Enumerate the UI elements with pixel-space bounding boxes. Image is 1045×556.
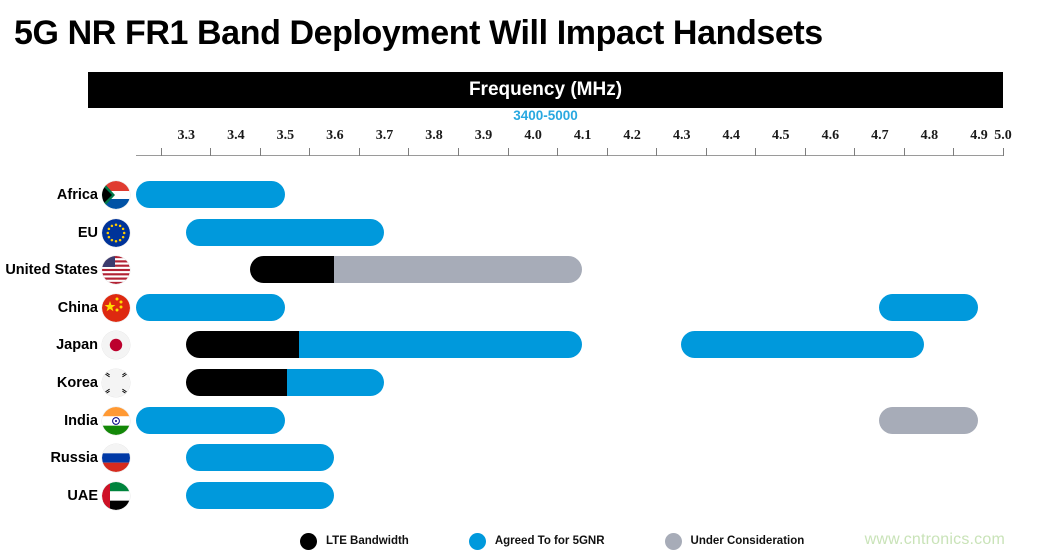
japan-flag	[102, 331, 130, 359]
bar-segment-lte	[186, 369, 288, 396]
chart-row: EU	[0, 214, 1045, 252]
bar-segment-agreed	[186, 482, 335, 509]
row-label-wrap: China	[0, 289, 98, 327]
axis-tick	[309, 148, 310, 156]
axis-tick-label: 3.3	[161, 128, 212, 144]
axis-tick-label: 3.4	[210, 128, 261, 144]
axis-tick	[508, 148, 509, 156]
eu-flag	[102, 219, 130, 247]
bar-segment-consideration	[334, 256, 582, 283]
korea-flag	[102, 369, 130, 397]
china-flag	[102, 294, 130, 322]
axis-tick	[210, 148, 211, 156]
axis-tick	[904, 148, 905, 156]
bar-segment-agreed	[186, 219, 384, 246]
row-label-japan: Japan	[0, 326, 98, 364]
axis-tick-label: 4.2	[607, 128, 658, 144]
india-flag	[102, 407, 130, 435]
row-label-wrap: Japan	[0, 326, 98, 364]
axis-tick	[953, 148, 954, 156]
chart-row: Africa	[0, 176, 1045, 214]
bar-segment-consideration	[879, 407, 978, 434]
bar-segment-agreed	[136, 181, 285, 208]
bar-segment-agreed	[136, 294, 285, 321]
legend-swatch-lte	[300, 533, 317, 550]
row-label-china: China	[0, 289, 98, 327]
row-label-india: India	[0, 402, 98, 440]
row-label-korea: Korea	[0, 364, 98, 402]
legend-swatch-consideration	[665, 533, 682, 550]
axis-tick-label: 3.6	[309, 128, 360, 144]
row-label-russia: Russia	[0, 439, 98, 477]
legend-item-agreed: Agreed To for 5GNR	[469, 533, 605, 550]
bar-segment-agreed	[287, 369, 384, 396]
axis-tick-label: 4.6	[805, 128, 856, 144]
row-label-united-states: United States	[0, 251, 98, 289]
legend-item-lte: LTE Bandwidth	[300, 533, 409, 550]
axis-tick	[260, 148, 261, 156]
axis-tick	[854, 148, 855, 156]
legend-item-consideration: Under Consideration	[665, 533, 805, 550]
axis-tick	[359, 148, 360, 156]
axis-tick-label: 3.5	[260, 128, 311, 144]
axis-tick-label: 4.0	[508, 128, 559, 144]
axis-tick-label: 4.5	[755, 128, 806, 144]
legend-swatch-agreed	[469, 533, 486, 550]
bar-segment-agreed	[136, 407, 285, 434]
row-label-uae: UAE	[0, 477, 98, 515]
axis-line	[136, 155, 1003, 156]
chart-row: Russia	[0, 439, 1045, 477]
united-states-flag	[102, 256, 130, 284]
bar-segment-agreed	[186, 444, 335, 471]
legend-label-agreed: Agreed To for 5GNR	[495, 535, 605, 547]
axis-tick	[557, 148, 558, 156]
row-label-wrap: EU	[0, 214, 98, 252]
chart-row: Japan	[0, 326, 1045, 364]
axis-tick	[161, 148, 162, 156]
row-label-eu: EU	[0, 214, 98, 252]
axis-tick	[607, 148, 608, 156]
chart-row: China	[0, 289, 1045, 327]
south-africa-flag	[102, 181, 130, 209]
axis-tick-label: 3.8	[408, 128, 459, 144]
bar-segment-agreed	[681, 331, 924, 358]
row-label-wrap: UAE	[0, 477, 98, 515]
row-label-wrap: Africa	[0, 176, 98, 214]
russia-flag	[102, 444, 130, 472]
axis-tick-label: 4.4	[706, 128, 757, 144]
legend-label-lte: LTE Bandwidth	[326, 535, 409, 547]
axis-tick-label: 3.7	[359, 128, 410, 144]
bar-segment-lte	[250, 256, 334, 283]
axis-tick	[755, 148, 756, 156]
axis-tick	[458, 148, 459, 156]
axis-tick-label: 4.1	[557, 128, 608, 144]
bar-segment-agreed	[879, 294, 978, 321]
chart-row: Korea	[0, 364, 1045, 402]
row-label-wrap: United States	[0, 251, 98, 289]
axis-tick-label: 3.9	[458, 128, 509, 144]
axis-tick-label: 4.3	[656, 128, 707, 144]
axis-tick	[805, 148, 806, 156]
axis-tick-label: 4.8	[904, 128, 955, 144]
uae-flag	[102, 482, 130, 510]
row-label-wrap: Korea	[0, 364, 98, 402]
axis-tick	[656, 148, 657, 156]
row-label-wrap: India	[0, 402, 98, 440]
axis-tick-label: 5.0	[978, 128, 1029, 144]
bar-segment-lte	[186, 331, 300, 358]
row-label-wrap: Russia	[0, 439, 98, 477]
axis-tick	[1003, 148, 1004, 156]
axis-tick	[408, 148, 409, 156]
axis-tick	[706, 148, 707, 156]
row-label-africa: Africa	[0, 176, 98, 214]
axis-tick-label: 4.7	[854, 128, 905, 144]
legend-label-consideration: Under Consideration	[691, 535, 805, 547]
chart-row: India	[0, 402, 1045, 440]
chart-row: UAE	[0, 477, 1045, 515]
watermark: www.cntronics.com	[865, 531, 1005, 549]
bar-segment-agreed	[299, 331, 581, 358]
chart-row: United States	[0, 251, 1045, 289]
chart-legend: LTE BandwidthAgreed To for 5GNRUnder Con…	[300, 530, 804, 552]
